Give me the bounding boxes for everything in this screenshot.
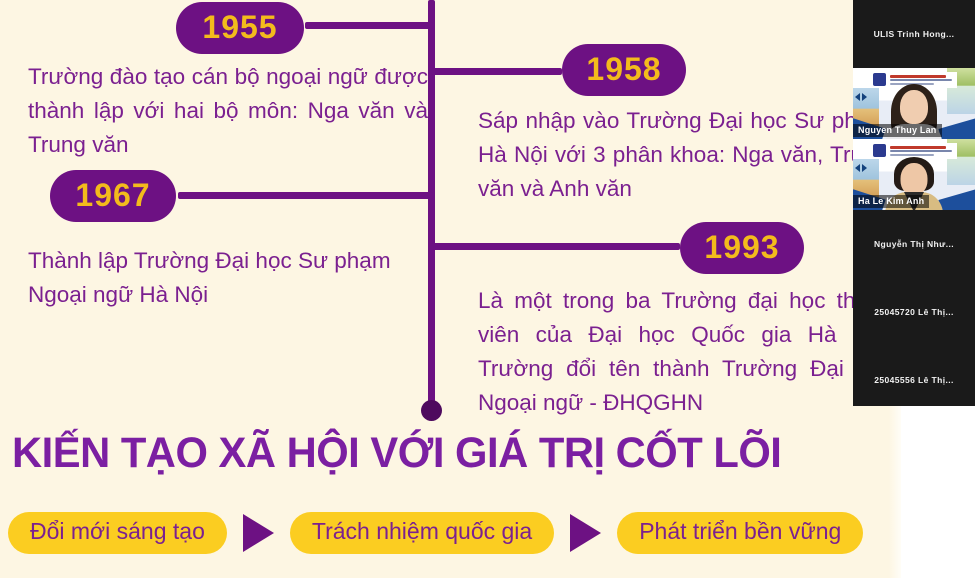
banner-line [890,150,952,152]
year-pill-1993: 1993 [680,222,804,274]
value-chip-responsibility: Trách nhiệm quốc gia [290,512,554,554]
banner-line [890,75,946,78]
timeline-end-dot [421,400,442,421]
value-chip-sustainability: Phát triển bền vững [617,512,863,554]
person-head [900,90,928,124]
slide-headline: KIẾN TẠO XÃ HỘI VỚI GIÁ TRỊ CỐT LÕI [12,432,781,475]
timeline-branch-1955 [305,22,433,29]
org-logo-icon [873,144,886,157]
core-values-row: Đổi mới sáng tạo Trách nhiệm quốc gia Ph… [8,512,863,554]
participant-tile-3[interactable]: Ha Le Kim Anh [853,139,975,210]
filmstrip-pager-icon[interactable] [855,93,867,101]
timeline-text-1955: Trường đào tạo cán bộ ngoại ngữ được thà… [28,60,428,162]
year-label: 1967 [75,179,150,211]
banner-line [890,79,952,81]
screen: 1955 1958 1967 1993 Trường đào tạo cán b… [0,0,975,578]
arrow-right-icon [570,514,601,552]
participant-name: Ha Le Kim Anh [853,195,929,208]
participant-filmstrip[interactable]: ULIS Trinh Hong... Nguyen Thuy Lan [853,0,975,406]
participant-tile-5[interactable]: 25045720 Lê Thị... [853,278,975,346]
participant-tile-6[interactable]: 25045556 Lê Thị... [853,346,975,406]
year-pill-1955: 1955 [176,2,304,54]
filmstrip-pager-icon[interactable] [855,164,867,172]
year-pill-1958: 1958 [562,44,686,96]
presentation-slide: 1955 1958 1967 1993 Trường đào tạo cán b… [0,0,897,578]
year-label: 1955 [202,11,277,43]
participant-tile-1[interactable]: ULIS Trinh Hong... [853,0,975,68]
timeline-text-1967: Thành lập Trường Đại học Sư phạm Ngoại n… [28,244,428,312]
participant-name: ULIS Trinh Hong... [874,29,955,39]
timeline-text-1993: Là một trong ba Trường đại học thành viê… [478,284,893,420]
participant-tile-2[interactable]: Nguyen Thuy Lan [853,68,975,139]
banner-line [890,154,934,156]
participant-tile-4[interactable]: Nguyễn Thị Như... [853,210,975,278]
timeline-text-1958: Sáp nhập vào Trường Đại học Sư phạm Hà N… [478,104,888,206]
banner-line [890,146,946,149]
org-logo-icon [873,73,886,86]
year-label: 1993 [704,231,779,263]
participant-name: 25045556 Lê Thị... [874,375,954,385]
year-pill-1967: 1967 [50,170,176,222]
participant-name: 25045720 Lê Thị... [874,307,954,317]
year-label: 1958 [586,53,661,85]
timeline-spine [428,0,435,409]
person-head [901,163,928,195]
arrow-right-icon [243,514,274,552]
participant-name: Nguyễn Thị Như... [874,239,954,249]
timeline-branch-1958 [432,68,562,75]
timeline-branch-1993 [432,243,680,250]
timeline-branch-1967 [178,192,433,199]
participant-name: Nguyen Thuy Lan [853,124,942,137]
value-chip-innovation: Đổi mới sáng tạo [8,512,227,554]
